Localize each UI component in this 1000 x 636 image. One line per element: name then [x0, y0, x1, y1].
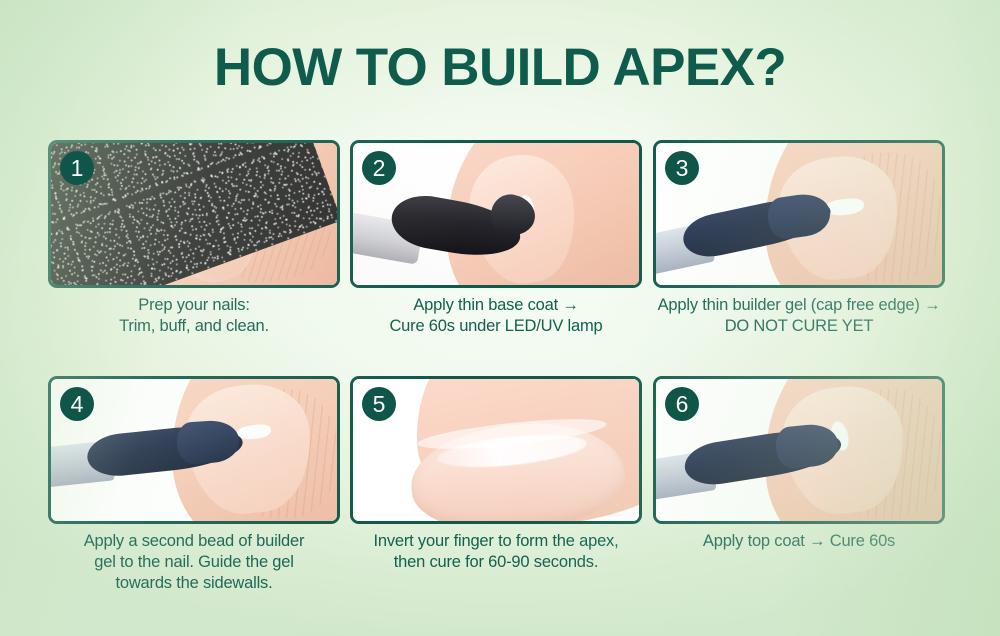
caption-line: Apply top coat → Cure 60s: [653, 531, 945, 552]
step-card-4: 4 Apply a second bead of builder gel to …: [48, 376, 340, 594]
step-4-caption: Apply a second bead of builder gel to th…: [29, 531, 359, 594]
step-number-badge-2: 2: [362, 151, 396, 185]
step-card-2: 2 Apply thin base coat → Cure 60s under …: [350, 140, 642, 337]
step-card-1: 1 Prep your nails: Trim, buff, and clean…: [48, 140, 340, 337]
step-1-caption: Prep your nails: Trim, buff, and clean.: [48, 295, 340, 337]
step-number-badge-5: 5: [362, 387, 396, 421]
step-6-image-frame: 6: [653, 376, 945, 524]
infographic-poster: HOW TO BUILD APEX? 1 Prep your nails: Tr…: [0, 0, 1000, 636]
caption-line: Apply a second bead of builder: [29, 531, 359, 552]
step-2-caption: Apply thin base coat → Cure 60s under LE…: [350, 295, 642, 337]
caption-line: Prep your nails:: [48, 295, 340, 316]
caption-line: gel to the nail. Guide the gel: [29, 552, 359, 573]
step-card-6: 6 Apply top coat → Cure 60s: [653, 376, 945, 552]
page-title: HOW TO BUILD APEX?: [0, 38, 1000, 98]
caption-line: Invert your finger to form the apex,: [331, 531, 661, 552]
step-2-image-frame: 2: [350, 140, 642, 288]
step-3-caption: Apply thin builder gel (cap free edge) →…: [634, 295, 964, 337]
caption-line: Apply thin builder gel (cap free edge) →: [634, 295, 964, 316]
caption-line: Cure 60s under LED/UV lamp: [350, 316, 642, 337]
step-1-image-frame: 1: [48, 140, 340, 288]
caption-line: then cure for 60-90 seconds.: [331, 552, 661, 573]
step-5-image-frame: 5: [350, 376, 642, 524]
caption-line: Apply thin base coat →: [350, 295, 642, 316]
step-6-caption: Apply top coat → Cure 60s: [653, 531, 945, 552]
step-card-5: 5 Invert your finger to form the apex, t…: [350, 376, 642, 573]
step-4-photo: [51, 379, 337, 521]
step-5-photo: [353, 379, 639, 521]
step-card-3: 3 Apply thin builder gel (cap free edge)…: [653, 140, 945, 337]
step-number-badge-6: 6: [665, 387, 699, 421]
step-number-badge-1: 1: [60, 151, 94, 185]
caption-line: DO NOT CURE YET: [634, 316, 964, 337]
step-1-photo: [51, 143, 337, 285]
step-3-photo: [656, 143, 942, 285]
caption-line: towards the sidewalls.: [29, 573, 359, 594]
step-3-image-frame: 3: [653, 140, 945, 288]
step-5-caption: Invert your finger to form the apex, the…: [331, 531, 661, 573]
step-4-image-frame: 4: [48, 376, 340, 524]
caption-line: Trim, buff, and clean.: [48, 316, 340, 337]
step-2-photo: [353, 143, 639, 285]
step-6-photo: [656, 379, 942, 521]
step-number-badge-3: 3: [665, 151, 699, 185]
step-number-badge-4: 4: [60, 387, 94, 421]
